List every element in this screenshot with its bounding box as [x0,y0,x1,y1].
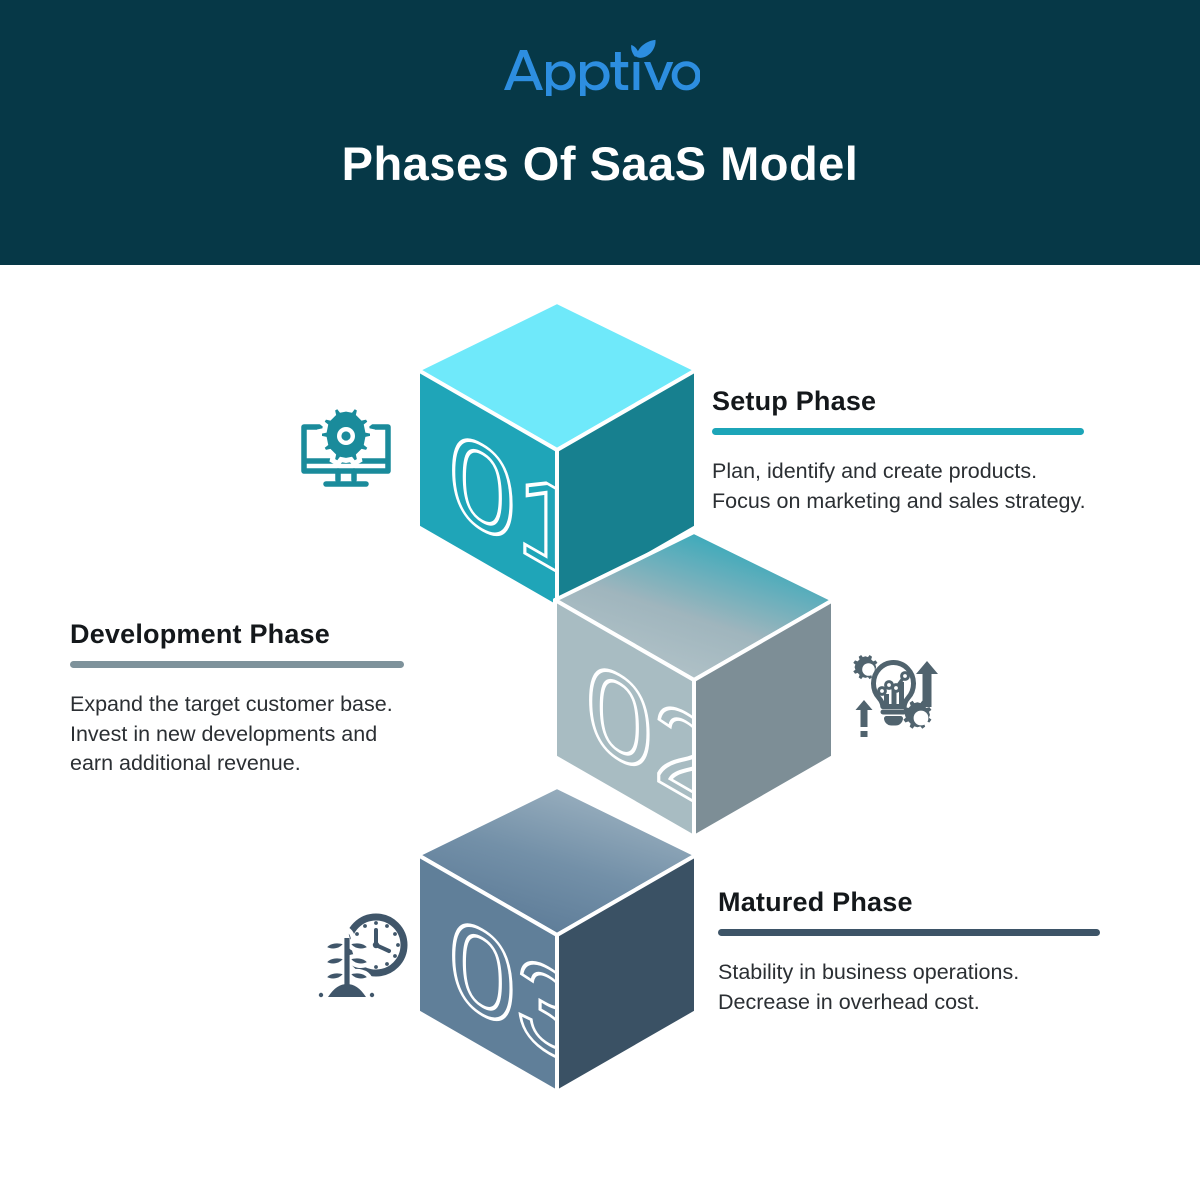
cube-phase-03: 03 [415,785,705,1095]
phase-title-setup: Setup Phase [712,386,1086,417]
phase-underline-development [70,661,404,668]
lightbulb-growth-gears-icon [848,647,948,747]
phase-title-development: Development Phase [70,619,404,650]
icon-matured-phase [310,905,410,1010]
header-banner: Phases Of SaaS Model [0,0,1200,265]
icon-setup-phase [296,405,396,505]
brand-logo [0,34,1200,104]
plant-clock-icon [310,905,410,1005]
phase-block-development: Development Phase Expand the target cust… [70,619,404,779]
page-title: Phases Of SaaS Model [0,136,1200,191]
icon-development-phase [848,647,948,752]
infographic-stage: 01 02 [0,265,1200,1200]
phase-block-setup: Setup Phase Plan, identify and create pr… [712,386,1086,516]
phase-block-matured: Matured Phase Stability in business oper… [718,887,1100,1017]
phase-underline-setup [712,428,1084,435]
phase-title-matured: Matured Phase [718,887,1100,918]
phase-description-matured: Stability in business operations. Decrea… [718,958,1100,1017]
phase-description-setup: Plan, identify and create products. Focu… [712,457,1086,516]
phase-description-development: Expand the target customer base. Invest … [70,690,404,779]
apptivo-leaf-logo-icon [500,34,700,96]
monitor-gear-icon [296,405,396,500]
phase-underline-matured [718,929,1100,936]
